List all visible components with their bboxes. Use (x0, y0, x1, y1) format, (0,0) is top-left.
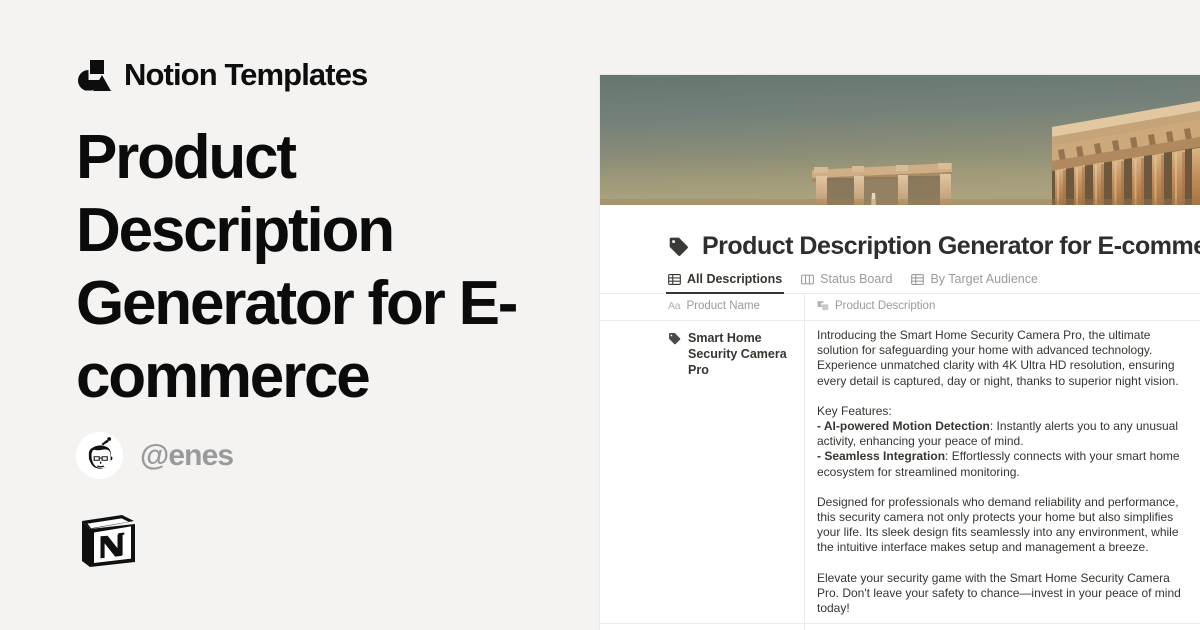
tag-icon (668, 236, 689, 257)
left-column: Notion Templates Product Description Gen… (76, 0, 596, 630)
cell-product-description[interactable]: Introducing the Smart Home Security Came… (805, 321, 1200, 623)
notion-page-preview[interactable]: Product Description Generator for E-comm… (600, 75, 1200, 630)
share-card: Notion Templates Product Description Gen… (0, 0, 1200, 630)
cell-product-name[interactable]: Smart Home Security Camera Pro (600, 321, 805, 623)
database-table[interactable]: Aa Product Name Product Description (600, 294, 1200, 630)
aa-text-icon: Aa (668, 300, 680, 312)
desc-paragraph: Elevate your security game with the Smar… (817, 571, 1184, 617)
spacer (817, 556, 1184, 571)
spacer (817, 389, 1184, 404)
text-block-icon (817, 300, 829, 312)
desc-bullet: - AI-powered Motion Detection: Instantly… (817, 419, 1184, 449)
column-header-product-name[interactable]: Aa Product Name (600, 294, 805, 320)
cell-product-description[interactable]: Discover the Luxury Wellness Smartwatch,… (805, 624, 1200, 630)
tab-label: By Target Audience (930, 272, 1037, 286)
tab-label: All Descriptions (687, 272, 782, 286)
column-label: Product Name (686, 300, 760, 312)
desc-bullet: - Seamless Integration: Effortlessly con… (817, 449, 1184, 479)
document-title: Product Description Generator for E-comm… (702, 232, 1200, 261)
table-header-row: Aa Product Name Product Description (600, 294, 1200, 321)
tab-all-descriptions[interactable]: All Descriptions (668, 272, 782, 293)
author-handle: @enes (140, 439, 233, 473)
tab-status-board[interactable]: Status Board (801, 272, 892, 293)
cover-image (600, 75, 1200, 205)
bullet-label: - Seamless Integration (817, 449, 945, 463)
tab-label: Status Board (820, 272, 892, 286)
spacer (817, 480, 1184, 495)
page-title: Product Description Generator for E-comm… (76, 121, 576, 413)
document-header: Product Description Generator for E-comm… (600, 205, 1200, 261)
product-name-text: Smart Home Security Camera Pro (688, 330, 796, 378)
tab-by-target-audience[interactable]: By Target Audience (911, 272, 1037, 293)
bullet-label: - AI-powered Motion Detection (817, 419, 990, 433)
parthenon-ruins-painting (600, 75, 1200, 205)
column-label: Product Description (835, 300, 935, 312)
desc-paragraph: Introducing the Smart Home Security Came… (817, 328, 1184, 389)
brand: Notion Templates (76, 57, 367, 93)
pixel-face-avatar-icon (76, 432, 123, 479)
author: @enes (76, 432, 233, 479)
tag-icon (668, 332, 681, 345)
table-row[interactable]: Smart Home Security Camera Pro Introduci… (600, 321, 1200, 624)
product-name-value[interactable]: Smart Home Security Camera Pro (668, 328, 796, 378)
column-header-product-description[interactable]: Product Description (805, 294, 1200, 320)
description-body: Introducing the Smart Home Security Came… (817, 328, 1184, 616)
table-row[interactable]: Luxury Wellness Smartwatch Discover the … (600, 624, 1200, 630)
board-columns-icon (801, 273, 814, 286)
cell-product-name[interactable]: Luxury Wellness Smartwatch (600, 624, 805, 630)
desc-paragraph: Designed for professionals who demand re… (817, 495, 1184, 556)
avatar (76, 432, 123, 479)
notion-cube-logo-icon (78, 507, 142, 571)
view-tabs[interactable]: All Descriptions Status Board By Target … (600, 261, 1200, 294)
table-grid-icon (911, 273, 924, 286)
table-grid-icon (668, 273, 681, 286)
brand-name: Notion Templates (124, 57, 367, 93)
notion-templates-shapes-logo-icon (76, 58, 111, 93)
desc-paragraph: Key Features: (817, 404, 1184, 419)
